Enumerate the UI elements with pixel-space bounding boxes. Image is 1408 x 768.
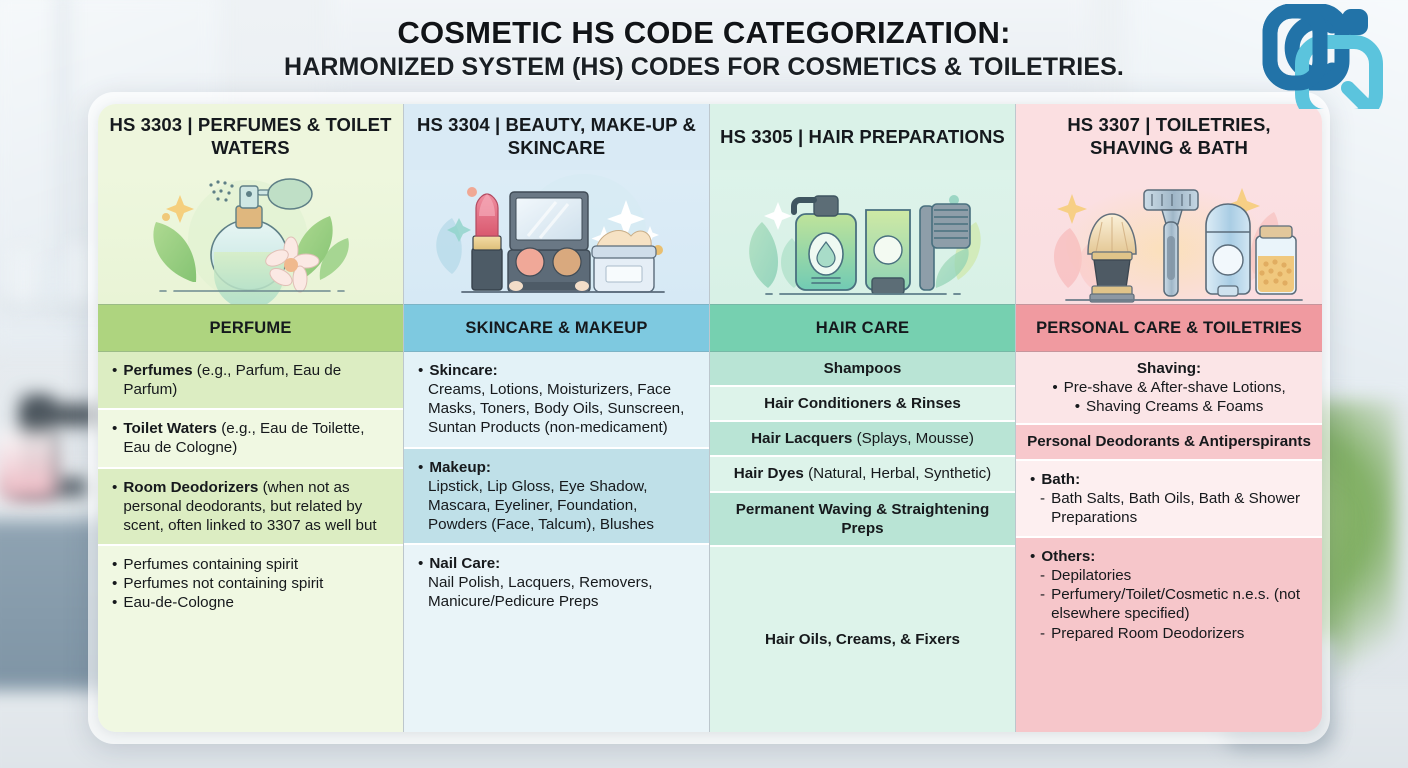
column-body-hs-3303: • Perfumes (e.g., Parfum, Eau de Parfum)… (98, 352, 403, 732)
list-item: Hair Dyes (Natural, Herbal, Synthetic) (710, 457, 1015, 492)
item-term: Toilet Waters (123, 420, 217, 437)
item-desc: Shaving Creams & Foams (1086, 397, 1263, 416)
dash-icon: - (1040, 489, 1045, 527)
item-desc: Nail Polish, Lacquers, Removers, Manicur… (418, 573, 697, 611)
bullet-icon: • (418, 554, 423, 573)
item-term: Shampoos (824, 360, 902, 377)
column-header-label: HS 3305 | Hair Preparations (720, 126, 1005, 149)
item-desc: Pre-shave & After-shave Lotions, (1064, 378, 1286, 397)
column-band-hair-care: Hair Care (710, 304, 1015, 352)
item-desc: (Splays, Mousse) (852, 430, 974, 447)
column-band-skincare-makeup: Skincare & Makeup (404, 304, 709, 352)
item-term: Hair Dyes (734, 465, 804, 482)
list-item: • Toilet Waters (e.g., Eau de Toilette, … (98, 410, 403, 468)
item-desc: Creams, Lotions, Moisturizers, Face Mask… (418, 380, 697, 437)
hs-code-table: HS 3303 | Perfumes & Toilet Waters (98, 104, 1322, 732)
cq-logo (1256, 4, 1396, 109)
column-header-hs-3304: HS 3304 | Beauty, Make-up & Skincare (404, 104, 709, 170)
item-desc: Perfumes containing spirit (123, 555, 298, 574)
perfume-bottle-illustration (98, 170, 403, 304)
column-hs-3307: HS 3307 | Toiletries, Shaving & Bath (1016, 104, 1322, 732)
list-item: • Room Deodorizers (when not as personal… (98, 469, 403, 546)
list-item: Hair Lacquers (Splays, Mousse) (710, 422, 1015, 457)
bullet-icon: • (112, 361, 117, 399)
bullet-icon: • (112, 478, 117, 535)
column-band-perfume: Perfume (98, 304, 403, 352)
hair-products-illustration (710, 170, 1015, 304)
list-item: • Bath: -Bath Salts, Bath Oils, Bath & S… (1016, 461, 1322, 538)
dash-icon: - (1040, 566, 1045, 585)
item-term: Personal Deodorants & Antiperspirants (1027, 432, 1311, 451)
makeup-palette-illustration (404, 170, 709, 304)
dash-icon: - (1040, 624, 1045, 643)
item-term: Perfumes (123, 362, 192, 379)
column-header-label: HS 3304 | Beauty, Make-up & Skincare (412, 114, 701, 159)
column-band-label: Personal Care & Toiletries (1036, 319, 1302, 338)
list-item: Shampoos (710, 352, 1015, 387)
item-desc: Perfumery/Toilet/Cosmetic n.e.s. (not el… (1051, 585, 1310, 623)
item-term: Room Deodorizers (123, 479, 258, 496)
list-item: • Skincare: Creams, Lotions, Moisturizer… (404, 352, 709, 449)
item-desc: Perfumes not containing spirit (123, 574, 323, 593)
list-item: • Makeup: Lipstick, Lip Gloss, Eye Shado… (404, 449, 709, 546)
item-term: Hair Conditioners & Rinses (764, 395, 961, 412)
item-desc: Eau-de-Cologne (123, 593, 234, 612)
dash-icon: - (1040, 585, 1045, 623)
item-term: Hair Lacquers (751, 430, 852, 447)
column-header-label: HS 3303 | Perfumes & Toilet Waters (106, 114, 395, 159)
bullet-icon: • (112, 419, 117, 457)
infographic-header: Cosmetic HS Code Categorization: Harmoni… (0, 0, 1408, 96)
column-band-label: Skincare & Makeup (465, 319, 647, 338)
shaving-bath-illustration (1016, 170, 1322, 304)
list-item: Shaving: •Pre-shave & After-shave Lotion… (1016, 352, 1322, 425)
item-term: Others: (1041, 547, 1095, 566)
column-band-label: Hair Care (816, 319, 909, 338)
page-title: Cosmetic HS Code Categorization: (397, 15, 1010, 51)
column-hs-3303: HS 3303 | Perfumes & Toilet Waters (98, 104, 404, 732)
column-header-hs-3303: HS 3303 | Perfumes & Toilet Waters (98, 104, 403, 170)
column-header-hs-3305: HS 3305 | Hair Preparations (710, 104, 1015, 170)
bullet-icon: • (1030, 470, 1035, 489)
bullet-icon: • (418, 458, 423, 477)
bullet-icon: • (112, 574, 117, 593)
bullet-icon: • (112, 593, 117, 612)
list-item: •Perfumes containing spirit •Perfumes no… (98, 546, 403, 732)
column-hs-3305: HS 3305 | Hair Preparations (710, 104, 1016, 732)
item-desc: (Natural, Herbal, Synthetic) (804, 465, 991, 482)
list-item: • Others: -Depilatories -Perfumery/Toile… (1016, 538, 1322, 732)
list-item: Hair Oils, Creams, & Fixers (710, 547, 1015, 732)
column-header-label: HS 3307 | Toiletries, Shaving & Bath (1024, 114, 1314, 159)
item-term: Skincare: (429, 361, 497, 380)
item-term: Makeup: (429, 458, 491, 477)
column-band-personal-care: Personal Care & Toiletries (1016, 304, 1322, 352)
item-desc: Prepared Room Deodorizers (1051, 624, 1244, 643)
column-body-hs-3304: • Skincare: Creams, Lotions, Moisturizer… (404, 352, 709, 732)
column-hs-3304: HS 3304 | Beauty, Make-up & Skincare (404, 104, 710, 732)
bullet-icon: • (1052, 378, 1057, 397)
item-term: Nail Care: (429, 554, 500, 573)
list-item: • Perfumes (e.g., Parfum, Eau de Parfum) (98, 352, 403, 410)
bullet-icon: • (418, 361, 423, 380)
bullet-icon: • (1030, 547, 1035, 566)
list-item: Permanent Waving & Straightening Preps (710, 493, 1015, 547)
list-item: Personal Deodorants & Antiperspirants (1016, 425, 1322, 460)
item-desc: Bath Salts, Bath Oils, Bath & Shower Pre… (1051, 489, 1310, 527)
column-band-label: Perfume (209, 319, 291, 338)
list-item: • Nail Care: Nail Polish, Lacquers, Remo… (404, 545, 709, 732)
item-desc: Lipstick, Lip Gloss, Eye Shadow, Mascara… (418, 477, 697, 534)
item-term: Bath: (1041, 470, 1080, 489)
list-item: Hair Conditioners & Rinses (710, 387, 1015, 422)
column-body-hs-3307: Shaving: •Pre-shave & After-shave Lotion… (1016, 352, 1322, 732)
bullet-icon: • (112, 555, 117, 574)
item-term: Hair Oils, Creams, & Fixers (765, 631, 960, 648)
column-header-hs-3307: HS 3307 | Toiletries, Shaving & Bath (1016, 104, 1322, 170)
item-term: Permanent Waving & Straightening Preps (736, 501, 989, 537)
page-subtitle: Harmonized System (HS) Codes for Cosmeti… (284, 53, 1124, 82)
item-term: Shaving: (1137, 359, 1201, 378)
column-body-hs-3305: Shampoos Hair Conditioners & Rinses Hair… (710, 352, 1015, 732)
item-desc: Depilatories (1051, 566, 1131, 585)
bullet-icon: • (1075, 397, 1080, 416)
